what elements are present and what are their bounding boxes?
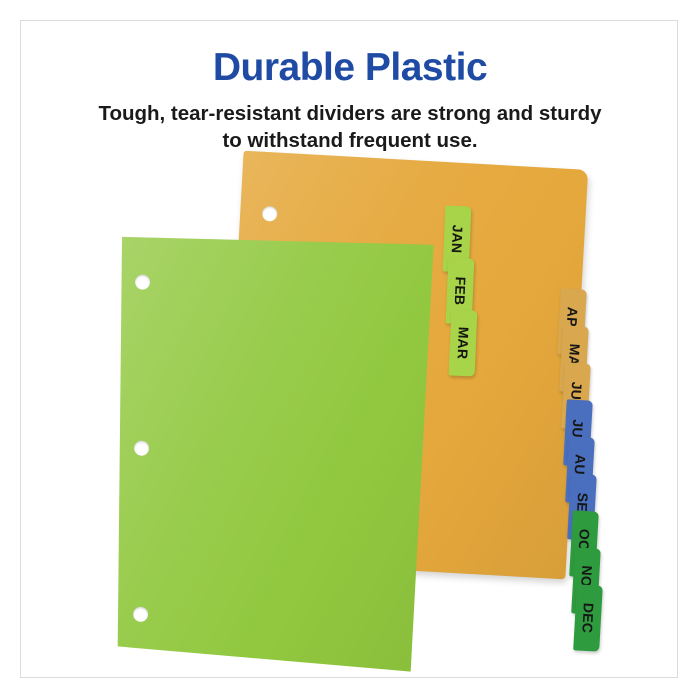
- tab-label: DEC: [579, 602, 597, 633]
- tab-label: JAN: [448, 224, 465, 253]
- divider-sheet-green: [99, 231, 437, 674]
- tab-label: MAR: [454, 326, 471, 359]
- subheading-line-1: Tough, tear-resistant dividers are stron…: [50, 100, 650, 127]
- tab-mar: MAR: [449, 309, 478, 376]
- tab-dec: DEC: [573, 584, 603, 651]
- tab-label: FEB: [451, 276, 468, 305]
- product-photo: JAN FEB MAR APR MAY JUN JUL AUG SEP OC: [0, 150, 700, 670]
- page-title: Durable Plastic: [0, 48, 700, 89]
- green-sheet-sheen: [99, 231, 437, 674]
- subheading: Tough, tear-resistant dividers are stron…: [50, 100, 650, 154]
- product-image-canvas: Durable Plastic Tough, tear-resistant di…: [0, 0, 700, 700]
